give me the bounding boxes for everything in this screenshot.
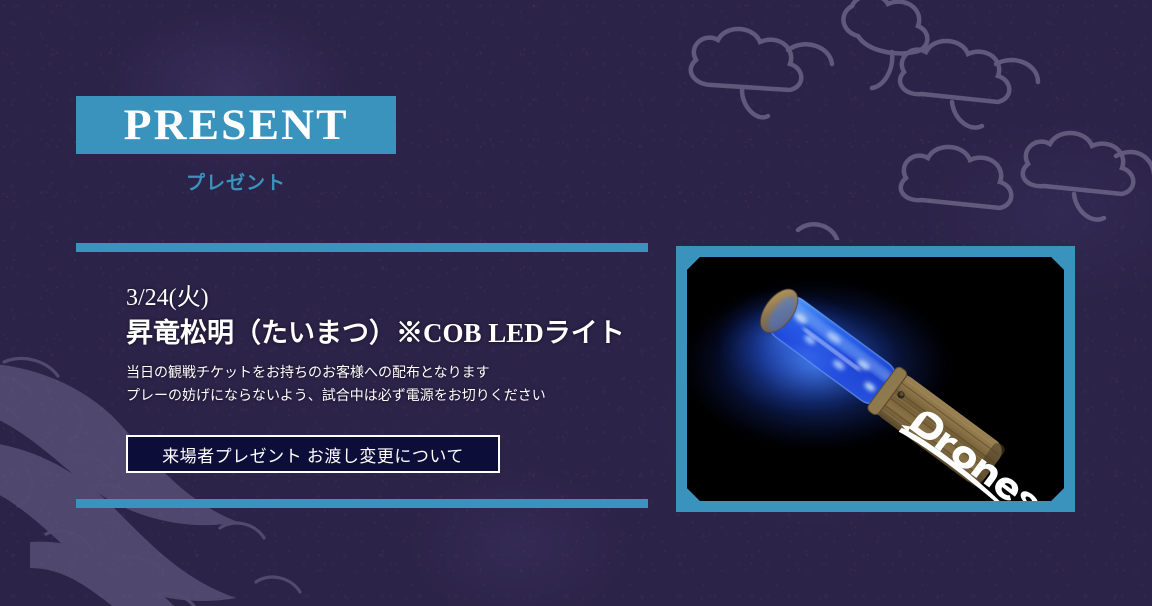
present-change-info-button-label: 来場者プレゼント お渡し変更について bbox=[162, 442, 464, 467]
divider-bottom bbox=[76, 499, 648, 508]
japanese-cloud-pattern-icon bbox=[592, 0, 1152, 240]
present-section: PRESENT プレゼント 3/24(火) 昇竜松明（たいまつ）※COB LED… bbox=[0, 0, 1152, 606]
present-banner: PRESENT bbox=[76, 96, 396, 154]
present-details: 3/24(火) 昇竜松明（たいまつ）※COB LEDライト 当日の観戦チケットを… bbox=[126, 285, 666, 408]
present-date: 3/24(火) bbox=[126, 285, 666, 311]
present-note-line-1: 当日の観戦チケットをお持ちのお客様への配布となります bbox=[126, 363, 666, 386]
present-item-name: 昇竜松明（たいまつ）※COB LEDライト bbox=[126, 317, 666, 351]
led-torch-product-image bbox=[687, 257, 1064, 501]
banner-subtitle: プレゼント bbox=[76, 168, 396, 195]
present-note-line-2: プレーの妨げにならないよう、試合中は必ず電源をお切りください bbox=[126, 386, 666, 409]
banner-title: PRESENT bbox=[123, 104, 348, 147]
product-photo-frame bbox=[676, 246, 1075, 512]
divider-top bbox=[76, 243, 648, 252]
product-photo bbox=[687, 257, 1064, 501]
present-change-info-button[interactable]: 来場者プレゼント お渡し変更について bbox=[126, 435, 500, 473]
